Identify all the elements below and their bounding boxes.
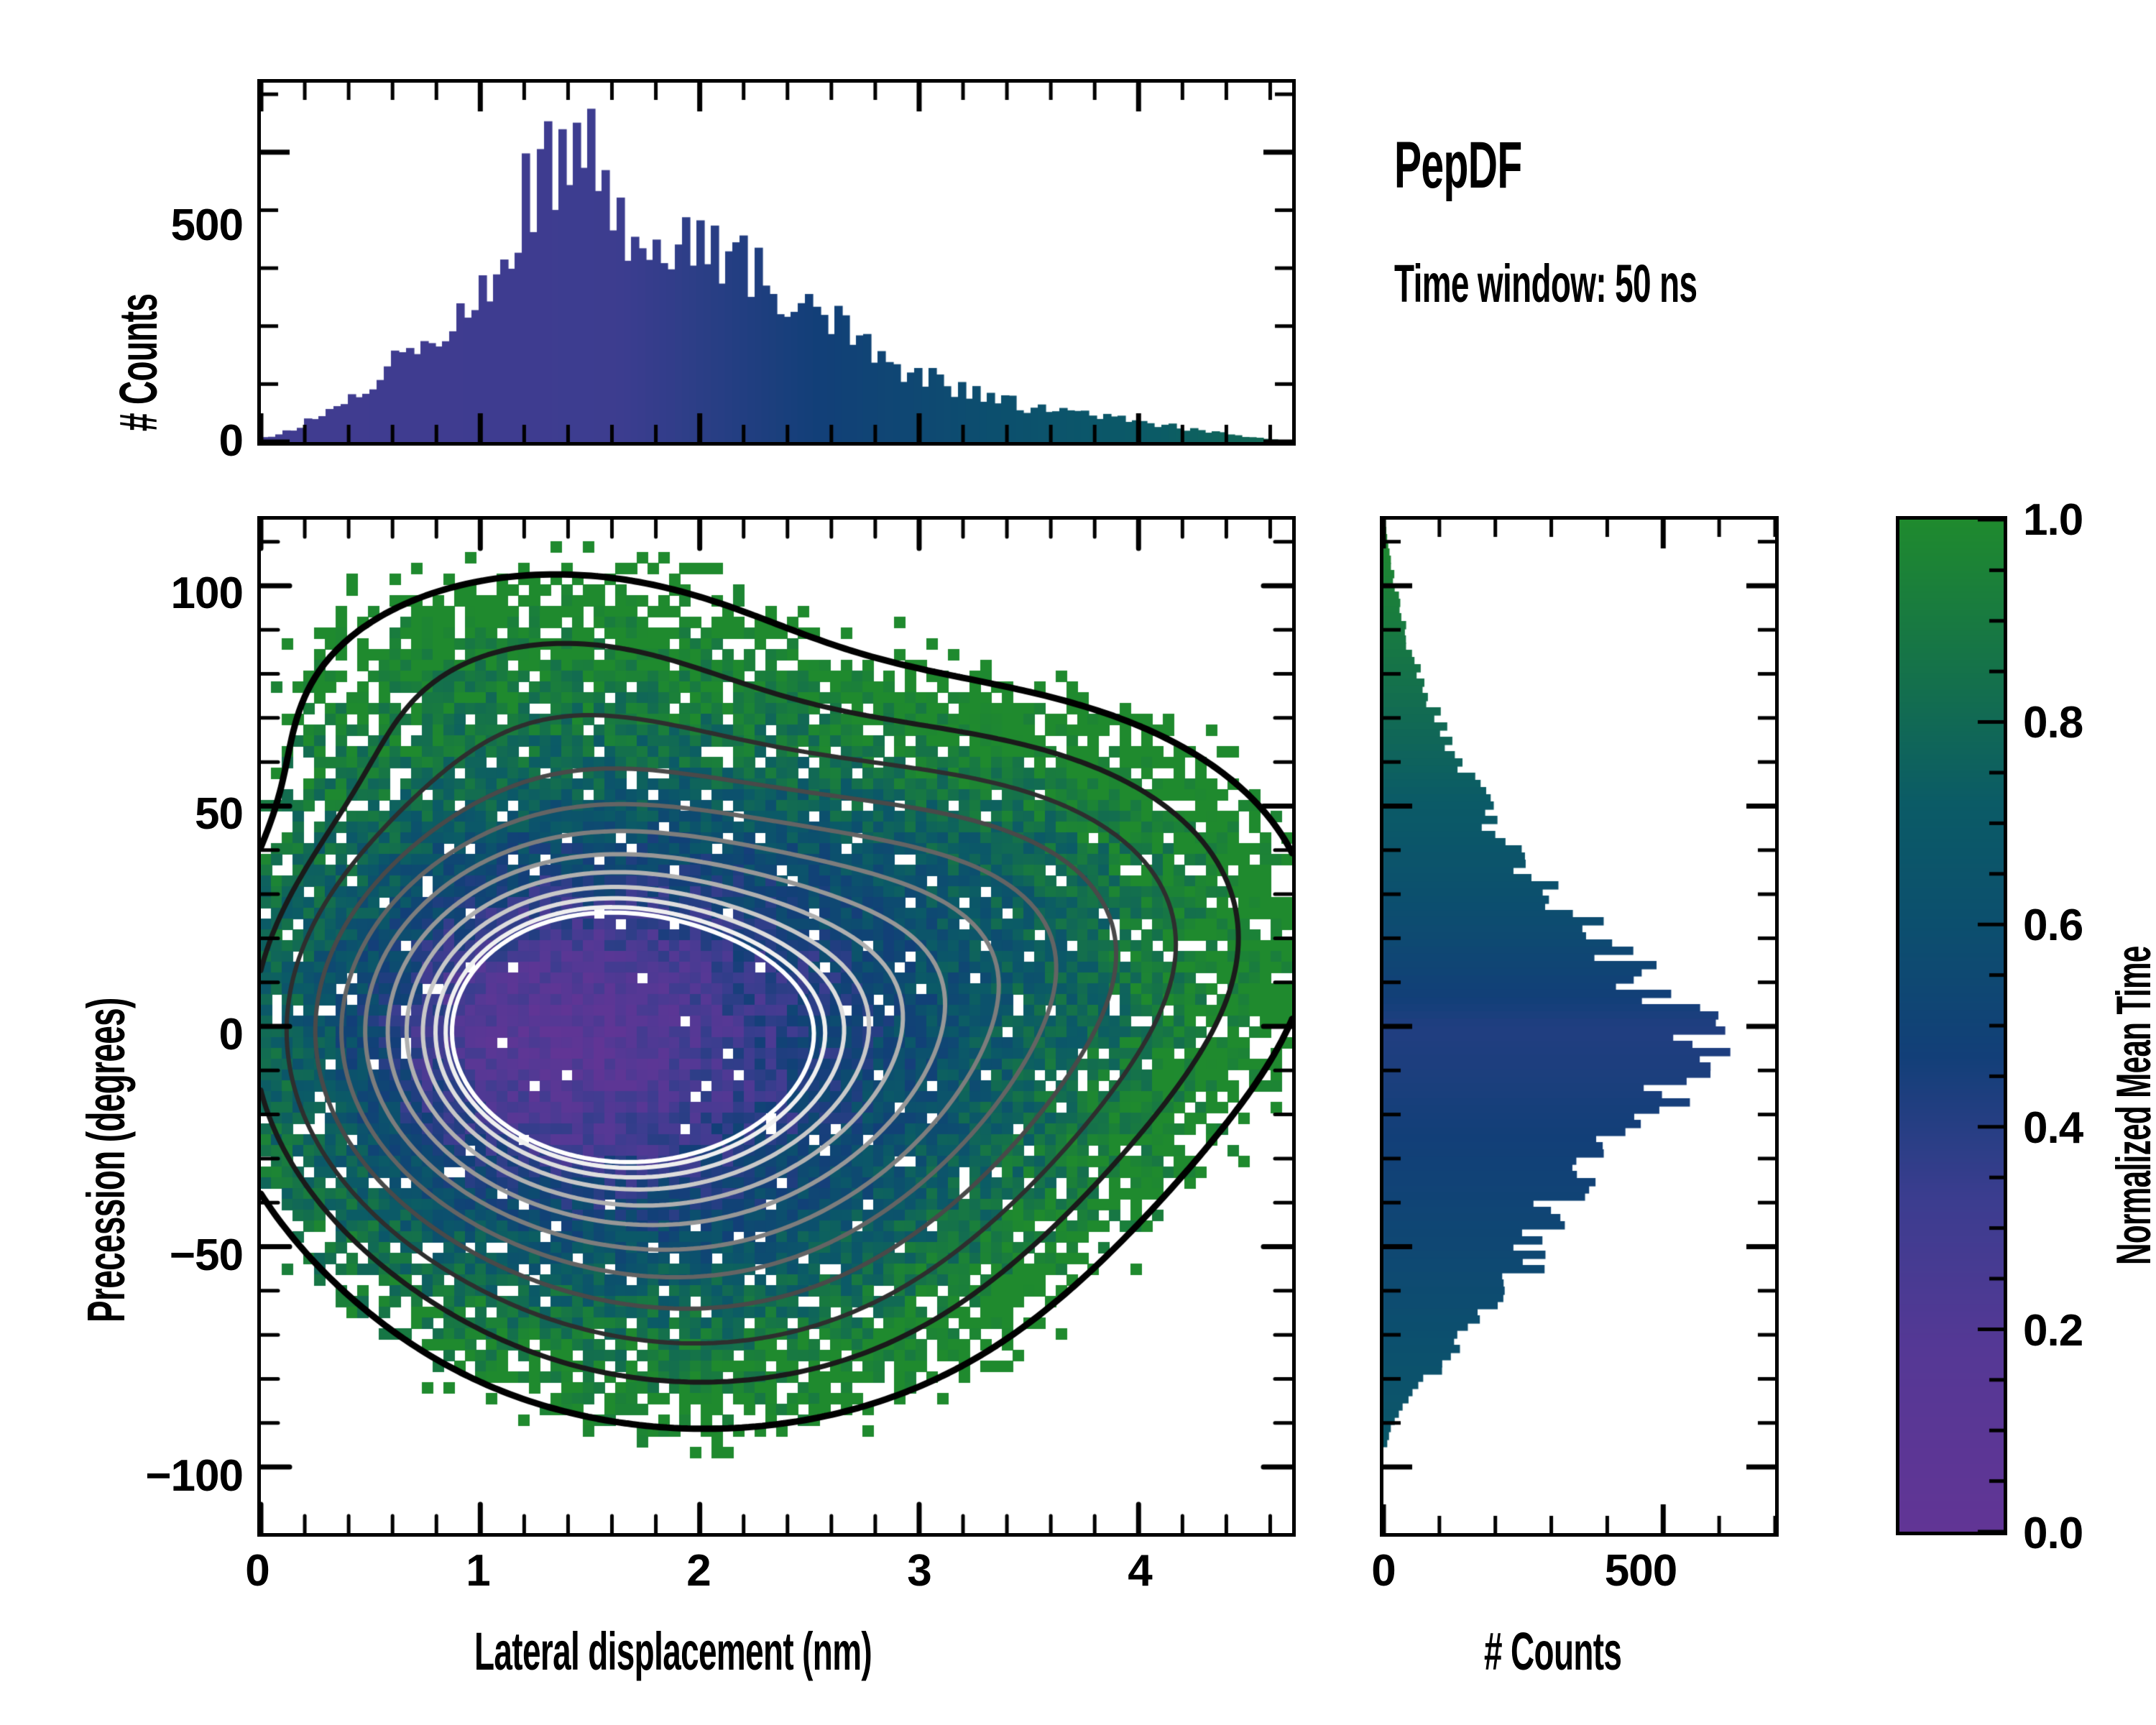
right-xtick-500: 500 (1594, 1545, 1687, 1596)
top-ylabel: # Counts (108, 209, 169, 431)
main-ytick-100: 100 (135, 568, 243, 619)
right-histogram-canvas (1383, 520, 1775, 1533)
colorbar-panel (1896, 516, 2007, 1535)
main-xtick-1: 1 (449, 1545, 507, 1596)
main-ytick-0: 0 (135, 1009, 243, 1060)
main-xtick-2: 2 (670, 1545, 727, 1596)
main-ytick-50: 50 (135, 788, 243, 839)
colorbar-tick-06: 0.6 (2023, 900, 2083, 951)
figure-subtitle: Time window: 50 ns (1394, 253, 1883, 314)
figure-root: 500 0 # Counts 100 50 0 −50 −100 Precess… (0, 0, 2156, 1725)
main-ytick-neg50: −50 (121, 1230, 243, 1281)
main-xtick-4: 4 (1111, 1545, 1169, 1596)
top-histogram-canvas (261, 83, 1292, 442)
colorbar-label: Normalized Mean Time (2106, 750, 2156, 1265)
top-ytick-500: 500 (164, 200, 243, 251)
colorbar-tick-02: 0.2 (2023, 1305, 2083, 1356)
colorbar-tick-04: 0.4 (2023, 1103, 2083, 1154)
right-histogram-panel (1380, 516, 1779, 1537)
main-ylabel: Precession (degrees) (75, 799, 137, 1322)
main-xtick-3: 3 (890, 1545, 948, 1596)
main-xlabel: Lateral displacement (nm) (474, 1621, 1115, 1682)
top-histogram-panel (257, 79, 1296, 446)
right-xtick-0: 0 (1355, 1545, 1412, 1596)
main-heatmap-panel (257, 516, 1296, 1537)
right-xlabel: # Counts (1484, 1621, 1706, 1682)
colorbar-tick-08: 0.8 (2023, 697, 2083, 748)
top-ytick-0: 0 (164, 415, 243, 466)
main-xtick-0: 0 (229, 1545, 286, 1596)
colorbar-tick-1: 1.0 (2023, 494, 2083, 546)
main-heatmap-canvas (261, 520, 1292, 1533)
figure-title: PepDF (1394, 128, 1600, 203)
colorbar-canvas (1899, 520, 2004, 1532)
main-ytick-neg100: −100 (121, 1450, 243, 1501)
colorbar-tick-0: 0.0 (2023, 1508, 2083, 1559)
